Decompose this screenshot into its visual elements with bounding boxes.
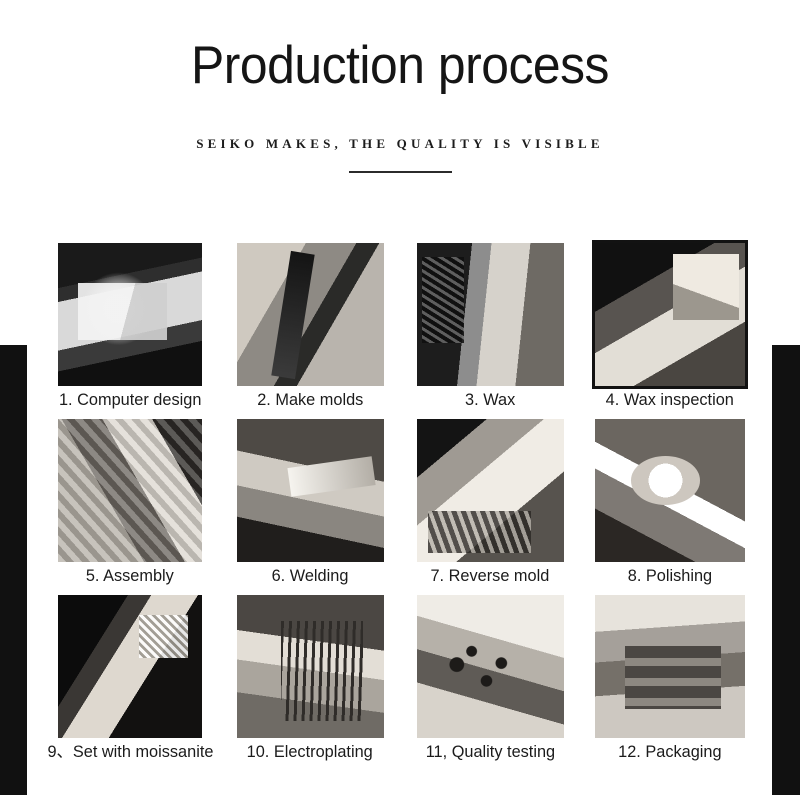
electroplating-photo	[237, 595, 384, 738]
step-caption: 2. Make molds	[257, 390, 363, 410]
process-step-12: 12. Packaging	[580, 595, 760, 771]
process-step-11: 11, Quality testing	[400, 595, 580, 771]
step-caption: 11, Quality testing	[425, 742, 554, 762]
step-caption: 1. Computer design	[59, 390, 201, 410]
process-step-1: 1. Computer design	[40, 243, 220, 419]
set-with-moissanite-photo	[58, 595, 202, 738]
step-caption: 3. Wax	[465, 390, 515, 410]
welding-photo	[237, 419, 384, 562]
title-divider	[349, 171, 452, 173]
page-title: Production process	[24, 0, 776, 94]
step-caption: 7. Reverse mold	[431, 566, 550, 586]
wax-photo	[417, 243, 564, 386]
page-subtitle: SEIKO MAKES, THE QUALITY IS VISIBLE	[0, 94, 800, 152]
quality-testing-photo	[417, 595, 564, 738]
process-step-3: 3. Wax	[400, 243, 580, 419]
process-step-5: 5. Assembly	[40, 419, 220, 595]
step-caption: 5. Assembly	[86, 566, 174, 586]
process-step-9: 9、Set with moissanite	[40, 595, 220, 771]
process-step-10: 10. Electroplating	[220, 595, 400, 771]
packaging-photo	[595, 595, 745, 738]
reverse-mold-photo	[417, 419, 564, 562]
process-step-2: 2. Make molds	[220, 243, 400, 419]
process-step-8: 8. Polishing	[580, 419, 760, 595]
wax-inspection-photo	[595, 243, 745, 386]
assembly-photo	[58, 419, 202, 562]
step-caption: 10. Electroplating	[247, 742, 373, 762]
step-caption: 6. Welding	[272, 566, 349, 586]
step-caption: 4. Wax inspection	[606, 390, 734, 410]
process-step-7: 7. Reverse mold	[400, 419, 580, 595]
process-step-6: 6. Welding	[220, 419, 400, 595]
step-caption: 12. Packaging	[618, 742, 721, 762]
make-molds-photo	[237, 243, 384, 386]
page-root: Production process SEIKO MAKES, THE QUAL…	[0, 0, 800, 795]
step-caption: 9、Set with moissanite	[47, 742, 213, 762]
process-steps-grid: 1. Computer design 2. Make molds 3. Wax …	[40, 243, 760, 771]
computer-design-photo	[58, 243, 202, 386]
process-step-4: 4. Wax inspection	[580, 243, 760, 419]
step-caption: 8. Polishing	[628, 566, 712, 586]
left-black-bar	[0, 345, 27, 795]
right-black-bar	[772, 345, 800, 795]
header: Production process SEIKO MAKES, THE QUAL…	[0, 0, 800, 173]
polishing-photo	[595, 419, 745, 562]
